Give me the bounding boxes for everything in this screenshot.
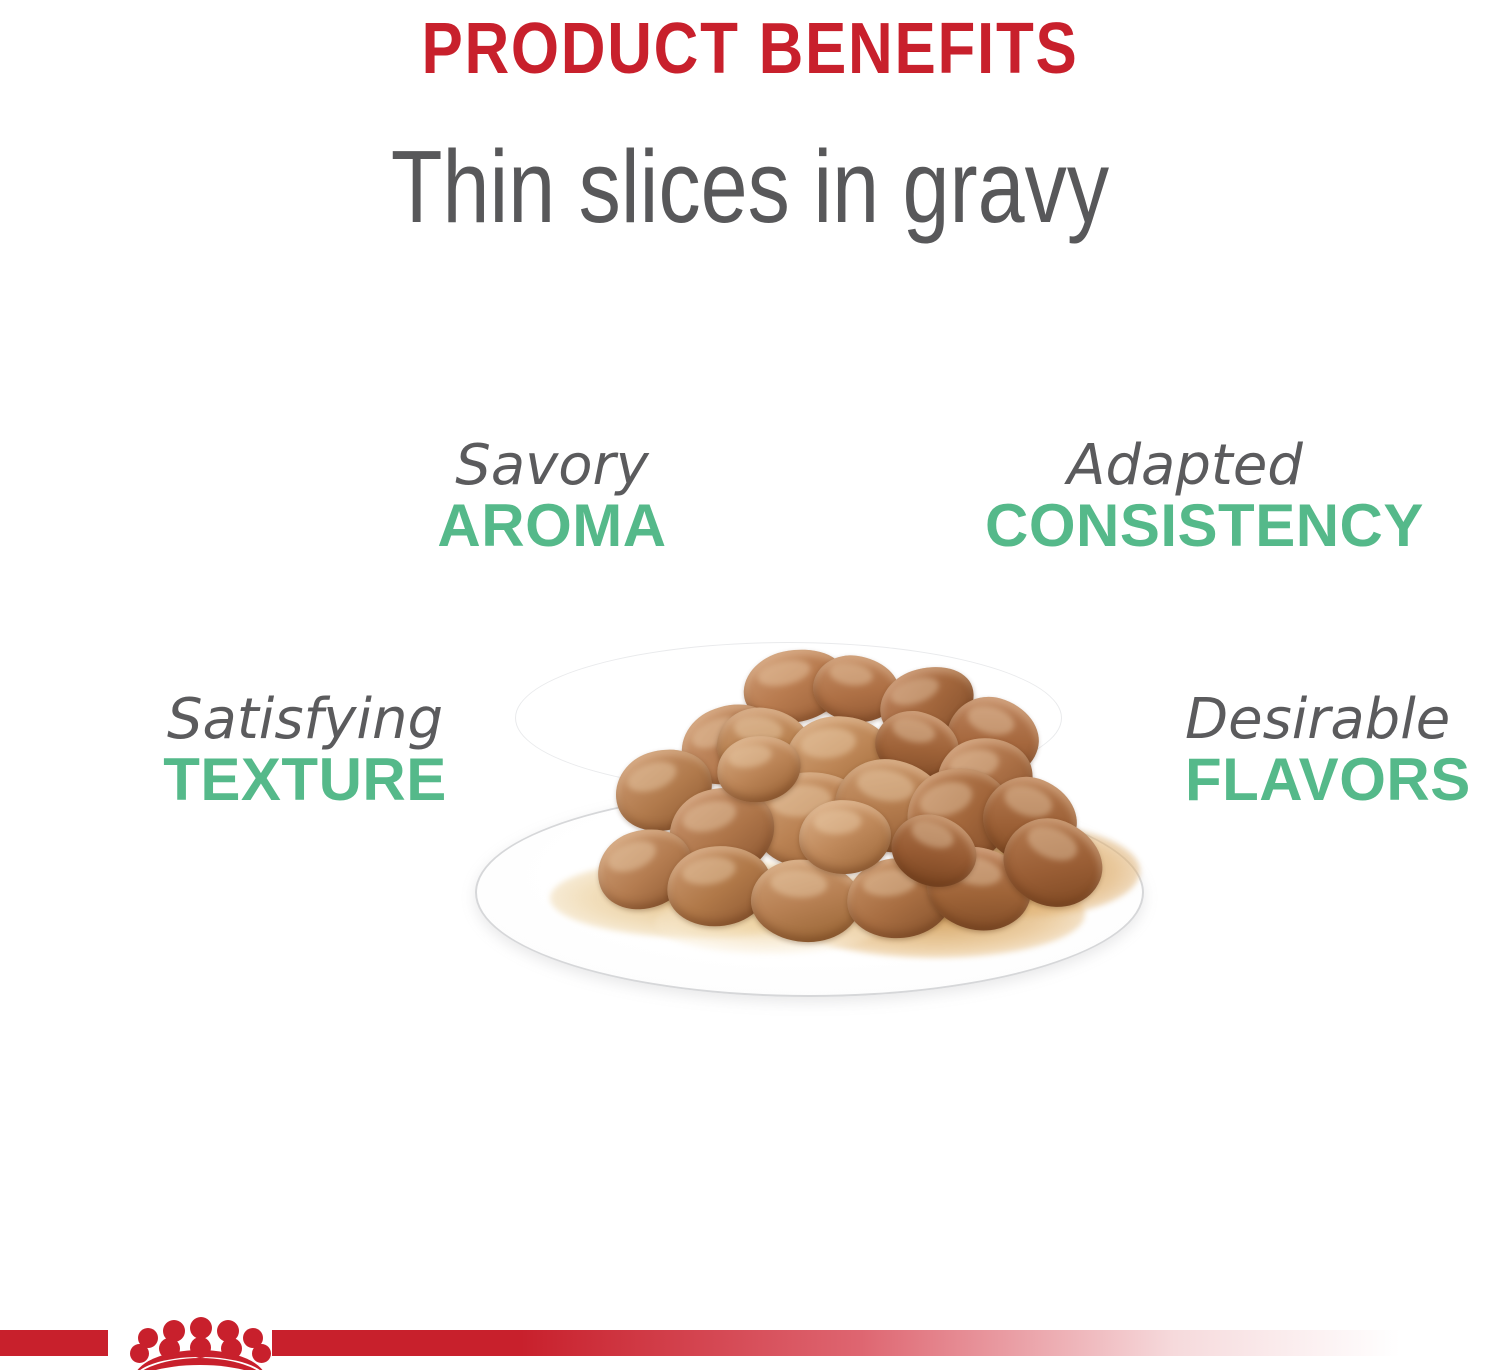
royal-canin-crown-icon [100, 1316, 280, 1370]
benefit-texture-label: TEXTURE [140, 748, 470, 813]
footer-rule-right [272, 1330, 1400, 1356]
product-benefits-panel: PRODUCT BENEFITS Thin slices in gravy Sa… [0, 0, 1500, 1370]
benefit-aroma-lead: Savory [402, 438, 702, 494]
benefit-flavors-lead: Desirable [1185, 692, 1500, 748]
product-food-image [455, 620, 1165, 1010]
brand-footer [0, 1316, 1500, 1370]
benefit-flavors: Desirable FLAVORS [1185, 692, 1500, 813]
footer-rule-left [0, 1330, 108, 1356]
benefit-consistency: Adapted CONSISTENCY [985, 438, 1385, 559]
page-title: Thin slices in gravy [135, 128, 1365, 246]
benefit-texture-lead: Satisfying [140, 692, 470, 748]
benefit-aroma: Savory AROMA [402, 438, 702, 559]
product-benefits-eyebrow: PRODUCT BENEFITS [105, 8, 1395, 90]
benefit-flavors-label: FLAVORS [1185, 748, 1500, 813]
benefit-consistency-lead: Adapted [985, 438, 1385, 494]
benefit-texture: Satisfying TEXTURE [140, 692, 470, 813]
benefit-consistency-label: CONSISTENCY [985, 494, 1385, 559]
benefit-aroma-label: AROMA [402, 494, 702, 559]
